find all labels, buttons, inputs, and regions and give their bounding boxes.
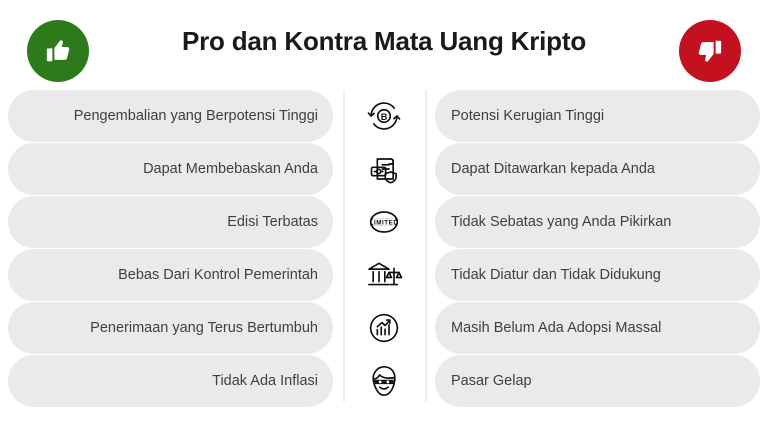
con-item-label: Masih Belum Ada Adopsi Massal [451,320,661,337]
growth-chart-icon [364,308,404,348]
con-item-3[interactable]: Tidak Diatur dan Tidak Didukung [435,249,760,301]
thumbs-down-icon [693,34,727,68]
header: Pro dan Kontra Mata Uang Kripto [0,0,768,88]
pro-item-label: Tidak Ada Inflasi [212,373,318,390]
pro-item-0[interactable]: Pengembalian yang Berpotensi Tinggi [8,90,333,142]
con-item-1[interactable]: Dapat Ditawarkan kepada Anda [435,143,760,195]
svg-text:B: B [381,112,388,122]
pro-item-label: Edisi Terbatas [227,214,318,231]
pro-item-5[interactable]: Tidak Ada Inflasi [8,355,333,407]
pro-item-label: Dapat Membebaskan Anda [143,161,318,178]
pro-item-2[interactable]: Edisi Terbatas [8,196,333,248]
con-item-label: Pasar Gelap [451,373,532,390]
limited-stamp-icon: LIMITED [364,202,404,242]
pro-item-3[interactable]: Bebas Dari Kontrol Pemerintah [8,249,333,301]
comparison-body: Pengembalian yang Berpotensi Tinggi B [0,88,768,408]
con-item-label: Tidak Diatur dan Tidak Didukung [451,267,661,284]
row-icon-3 [353,249,415,301]
courthouse-scales-icon [364,255,404,295]
pro-item-label: Penerimaan yang Terus Bertumbuh [90,320,318,337]
pro-item-1[interactable]: Dapat Membebaskan Anda [8,143,333,195]
thumbs-up-icon [41,34,75,68]
pro-item-4[interactable]: Penerimaan yang Terus Bertumbuh [8,302,333,354]
con-item-label: Potensi Kerugian Tinggi [451,108,604,125]
con-badge [679,20,741,82]
row-icon-2: LIMITED [353,196,415,248]
page-title: Pro dan Kontra Mata Uang Kripto [110,26,658,57]
row-icon-5 [353,355,415,407]
bitcoin-exchange-icon: B [364,96,404,136]
pro-item-label: Bebas Dari Kontrol Pemerintah [118,267,318,284]
row-icon-1 [353,143,415,195]
masked-thief-icon [364,361,404,401]
comparison-row: Dapat Membebaskan Anda [0,143,768,195]
con-item-0[interactable]: Potensi Kerugian Tinggi [435,90,760,142]
svg-text:LIMITED: LIMITED [370,219,399,226]
con-item-5[interactable]: Pasar Gelap [435,355,760,407]
con-item-4[interactable]: Masih Belum Ada Adopsi Massal [435,302,760,354]
pro-badge [27,20,89,82]
row-icon-0: B [353,90,415,142]
comparison-row: Tidak Ada Inflasi [0,355,768,407]
comparison-row: Pengembalian yang Berpotensi Tinggi B [0,90,768,142]
comparison-row: Penerimaan yang Terus Bertumbuh Masih [0,302,768,354]
cash-document-shield-icon [364,149,404,189]
comparison-row: Edisi Terbatas LIMITED Tidak Sebatas yan… [0,196,768,248]
infographic-canvas: Pro dan Kontra Mata Uang Kripto Pengemba… [0,0,768,432]
con-item-label: Tidak Sebatas yang Anda Pikirkan [451,214,671,231]
con-item-2[interactable]: Tidak Sebatas yang Anda Pikirkan [435,196,760,248]
comparison-row: Bebas Dari Kontrol Pemerintah [0,249,768,301]
pro-item-label: Pengembalian yang Berpotensi Tinggi [74,108,318,125]
row-icon-4 [353,302,415,354]
con-item-label: Dapat Ditawarkan kepada Anda [451,161,655,178]
